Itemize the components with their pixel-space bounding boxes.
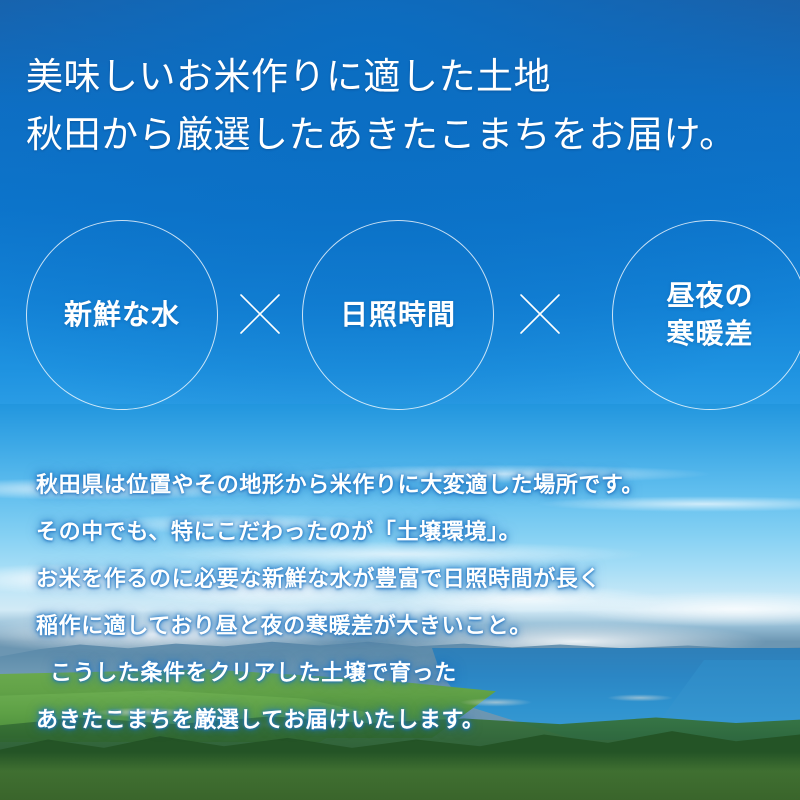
body-line-5: こうした条件をクリアした土壌で育った — [36, 650, 800, 697]
body-line-6: あきたこまちを厳選してお届けいたします。 — [36, 697, 800, 744]
multiply-icon-1 — [238, 292, 282, 336]
headline-line-2: 秋田から厳選したあきたこまちをお届け。 — [26, 106, 782, 164]
feature-circle-row: 新鮮な水 日照時間 昼夜の 寒暖差 — [0, 214, 800, 414]
feature-label-fresh-water: 新鮮な水 — [64, 296, 180, 334]
multiply-icon-2 — [518, 292, 562, 336]
body-line-2: その中でも、特にこだわったのが「土壌環境」。 — [36, 509, 800, 556]
feature-circle-fresh-water: 新鮮な水 — [26, 220, 218, 410]
feature-label-temperature-range-line-2: 寒暖差 — [666, 317, 753, 350]
body-line-1: 秋田県は位置やその地形から米作りに大変適した場所です。 — [36, 462, 800, 509]
feature-circle-sunshine-hours: 日照時間 — [302, 220, 494, 410]
body-line-4: 稲作に適しており昼と夜の寒暖差が大きいこと。 — [36, 603, 800, 650]
body-copy: 秋田県は位置やその地形から米作りに大変適した場所です。 その中でも、特にこだわっ… — [36, 462, 800, 744]
headline: 美味しいお米作りに適した土地 秋田から厳選したあきたこまちをお届け。 — [26, 48, 782, 164]
promo-banner: 美味しいお米作りに適した土地 秋田から厳選したあきたこまちをお届け。 新鮮な水 … — [0, 0, 800, 800]
feature-label-temperature-range-line-1: 昼夜の — [666, 279, 753, 312]
body-line-3: お米を作るのに必要な新鮮な水が豊富で日照時間が長く — [36, 556, 800, 603]
feature-label-temperature-range: 昼夜の 寒暖差 — [666, 277, 753, 353]
headline-line-1: 美味しいお米作りに適した土地 — [26, 48, 782, 106]
foreground-grass — [0, 752, 800, 800]
feature-label-sunshine-hours: 日照時間 — [340, 296, 456, 334]
feature-circle-temperature-range: 昼夜の 寒暖差 — [612, 220, 800, 410]
